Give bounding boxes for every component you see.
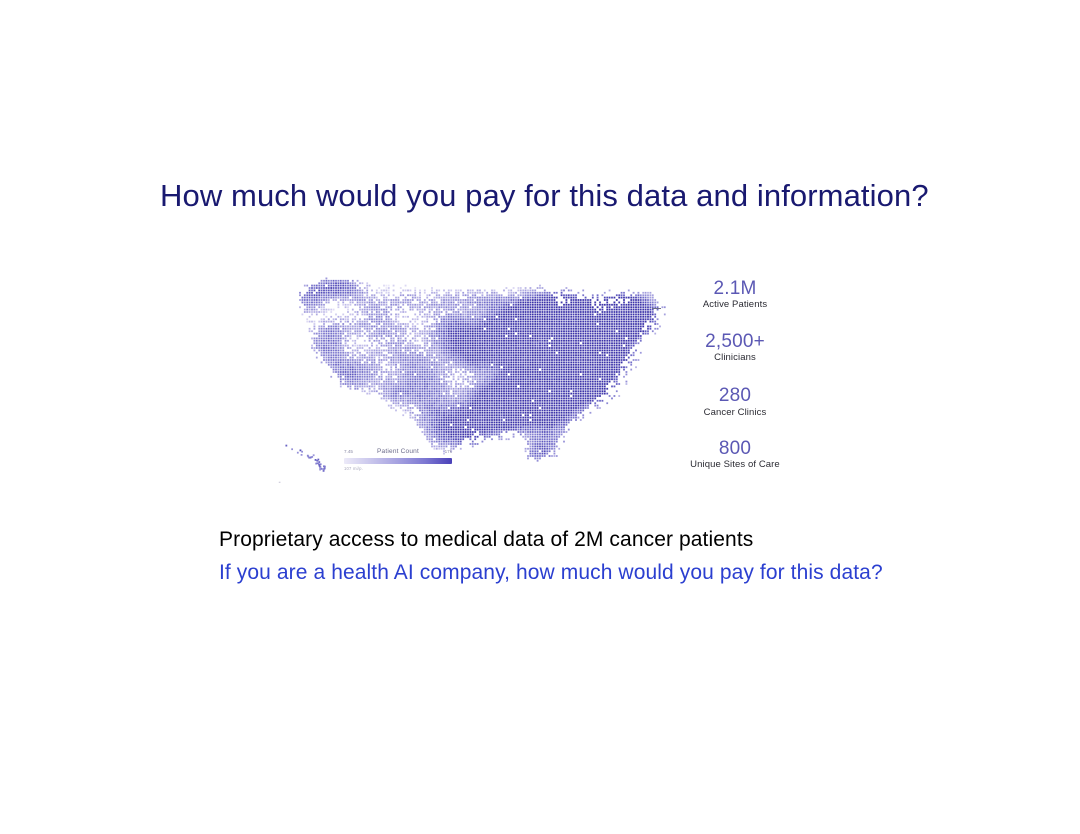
stats-list: 2.1M Active Patients 2,500+ Clinicians 2… xyxy=(660,278,810,485)
legend-gradient-bar xyxy=(344,458,452,464)
stat-label: Active Patients xyxy=(660,299,810,310)
legend-max-label: 17k xyxy=(445,449,452,454)
stat-value: 280 xyxy=(660,385,810,406)
stat-value: 2.1M xyxy=(660,278,810,299)
stat-label: Clinicians xyxy=(660,352,810,363)
legend-title: Patient Count xyxy=(344,448,452,455)
united-states-patient-density-dot-map xyxy=(270,258,670,493)
stat-value: 800 xyxy=(660,438,810,459)
legend-scale: 7.45 17k xyxy=(344,456,452,464)
caption-line-2: If you are a health AI company, how much… xyxy=(219,561,883,585)
figure-container: Patient Count 7.45 17k 107 mi/p. 2.1M Ac… xyxy=(270,258,790,493)
slide-canvas: How much would you pay for this data and… xyxy=(0,0,1080,834)
stat-item: 280 Cancer Clinics xyxy=(660,385,810,418)
legend-note: 107 mi/p. xyxy=(344,466,452,471)
stat-label: Cancer Clinics xyxy=(660,407,810,418)
caption-line-1: Proprietary access to medical data of 2M… xyxy=(219,528,753,552)
stat-label: Unique Sites of Care xyxy=(660,459,810,470)
legend-min-label: 7.45 xyxy=(344,449,353,454)
stat-value: 2,500+ xyxy=(660,331,810,352)
stat-item: 2,500+ Clinicians xyxy=(660,331,810,364)
map-canvas xyxy=(270,258,670,493)
stat-item: 800 Unique Sites of Care xyxy=(660,438,810,471)
stat-item: 2.1M Active Patients xyxy=(660,278,810,311)
page-title: How much would you pay for this data and… xyxy=(160,178,1020,214)
map-legend: Patient Count 7.45 17k 107 mi/p. xyxy=(344,448,452,471)
